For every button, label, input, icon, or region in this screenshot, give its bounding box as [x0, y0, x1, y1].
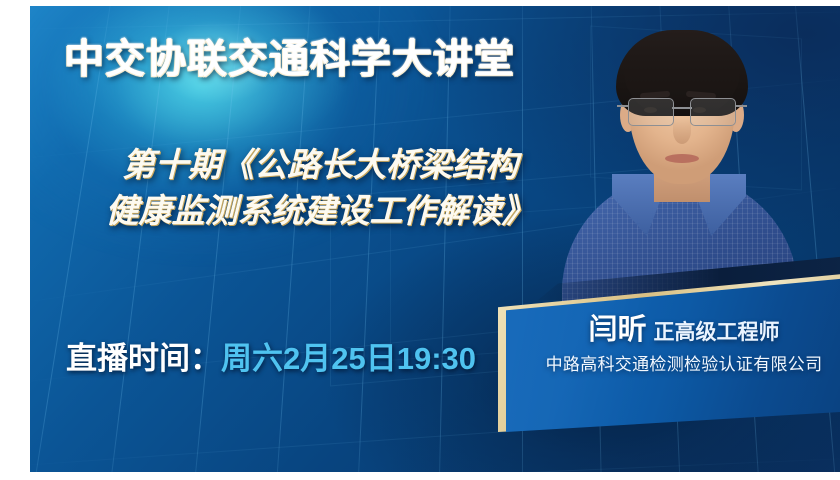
speaker-nose — [673, 118, 691, 144]
speaker-job-title: 正高级工程师 — [654, 321, 780, 344]
glasses-bridge — [672, 107, 692, 109]
poster-subtitle: 第十期《公路长大桥梁结构 健康监测系统建设工作解读》 — [50, 142, 590, 234]
live-event-poster: 中交协联交通科学大讲堂 第十期《公路长大桥梁结构 健康监测系统建设工作解读》 直… — [30, 6, 840, 472]
live-time: 直播时间：周六2月25日19:30 — [66, 333, 476, 378]
glasses-lens-right — [690, 98, 736, 126]
speaker-organization: 中路高科交通检测检验认证有限公司 — [498, 350, 840, 375]
poster-title: 中交协联交通科学大讲堂 — [64, 26, 515, 84]
speaker-info-panel: 闫昕正高级工程师 中路高科交通检测检验认证有限公司 — [498, 254, 840, 439]
glasses-temple-right — [735, 105, 747, 107]
live-time-value: 周六2月25日19:30 — [221, 341, 476, 376]
speaker-name: 闫昕 — [588, 314, 646, 346]
glasses-temple-left — [617, 105, 629, 107]
live-time-label: 直播时间： — [66, 341, 221, 376]
glasses-lens-left — [628, 98, 674, 126]
speaker-name-row: 闫昕正高级工程师 — [498, 306, 840, 348]
speaker-mouth — [665, 154, 699, 163]
